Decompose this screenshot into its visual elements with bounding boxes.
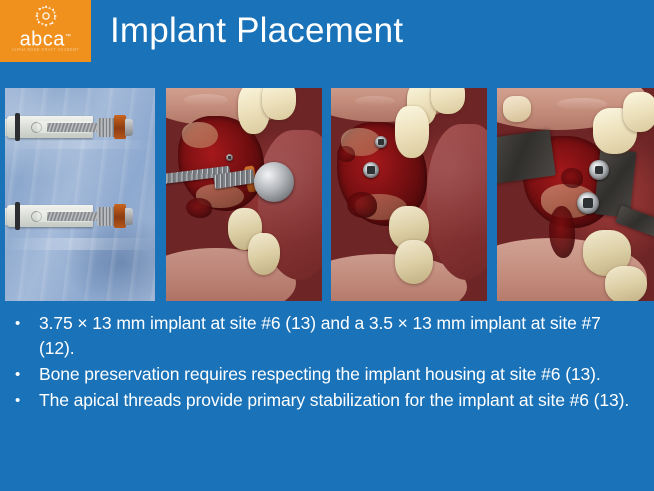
photo-2-content [166,88,322,301]
carrier-tip-upper [125,119,133,136]
photo-strip [0,88,654,301]
photo-implants-in-packaging [5,88,155,301]
starburst-icon [31,3,61,29]
implant-platform-2 [226,154,233,161]
tooth-left-4 [503,96,531,122]
bullet-text-3: The apical threads provide primary stabi… [39,388,630,413]
specular-highlight-2 [184,94,228,106]
abca-logo: abca™ ALPHA BONE GRAFT ACADEMY [0,0,91,62]
retractor-right-4 [594,148,637,217]
retractor-left-4 [497,130,556,185]
bone-crest-2 [182,122,218,148]
tooth-incisor-b-3 [431,88,465,114]
logo-wordmark: abca™ [0,27,91,50]
carrier-collar-lower [97,207,115,226]
bullet-item-3: • The apical threads provide primary sta… [0,388,654,413]
implant-platform-site6-3 [375,136,387,148]
blood-pool-3 [347,192,377,218]
tooth-molar-3 [395,240,433,284]
bullet-marker-icon: • [12,311,39,336]
photo-3-content [331,88,487,301]
tooth-canine-3 [395,106,429,158]
photo-implant-driver-in-osteotomy [166,88,322,301]
logo-tagline: ALPHA BONE GRAFT ACADEMY [0,48,91,54]
implant-platform-site7-4 [577,192,599,214]
bullet-marker-icon: • [12,362,39,387]
tooth-incisor-b-2 [262,88,296,120]
photo-4-content [497,88,654,301]
bullet-item-2: • Bone preservation requires respecting … [0,362,654,387]
tooth-molar-2 [248,233,280,275]
implant-platform-site6-4 [589,160,609,180]
logo-trademark: ™ [65,34,72,40]
bullet-marker-icon: • [12,388,39,413]
carrier-collar-upper [97,118,115,137]
tongue-3 [427,124,487,280]
implant-threads-upper [47,123,99,132]
specular-highlight-4 [557,98,607,110]
slide-canvas: abca™ ALPHA BONE GRAFT ACADEMY Implant P… [0,0,654,491]
blood-pool-b-3 [337,146,355,162]
blood-pool-4 [561,168,583,188]
bullet-list: • 3.75 × 13 mm implant at site #6 (13) a… [0,311,654,414]
photo-implants-with-flap-retracted [497,88,654,301]
retractor-lower-4 [615,205,654,236]
blood-pool-2 [186,198,212,218]
drape-fold-lower [5,238,155,250]
tooth-molar-b-4 [605,266,647,301]
photo-1-content [5,88,155,301]
bullet-item-1: • 3.75 × 13 mm implant at site #6 (13) a… [0,311,654,361]
implant-carrier-upper [7,112,139,142]
tooth-incisor-b-4 [623,92,654,132]
blood-trail-4 [549,206,575,258]
driver-head-2 [254,162,294,202]
implant-carrier-lower [7,201,139,231]
specular-highlight-3 [355,96,395,106]
bullet-text-1: 3.75 × 13 mm implant at site #6 (13) and… [39,311,630,361]
implant-threads-lower [47,212,99,221]
page-title: Implant Placement [110,9,403,53]
photo-implants-seated-in-bone [331,88,487,301]
bullet-text-2: Bone preservation requires respecting th… [39,362,630,387]
slide-header: abca™ ALPHA BONE GRAFT ACADEMY Implant P… [0,0,654,62]
implant-platform-site7-3 [363,162,379,178]
carrier-tip-lower [125,208,133,225]
